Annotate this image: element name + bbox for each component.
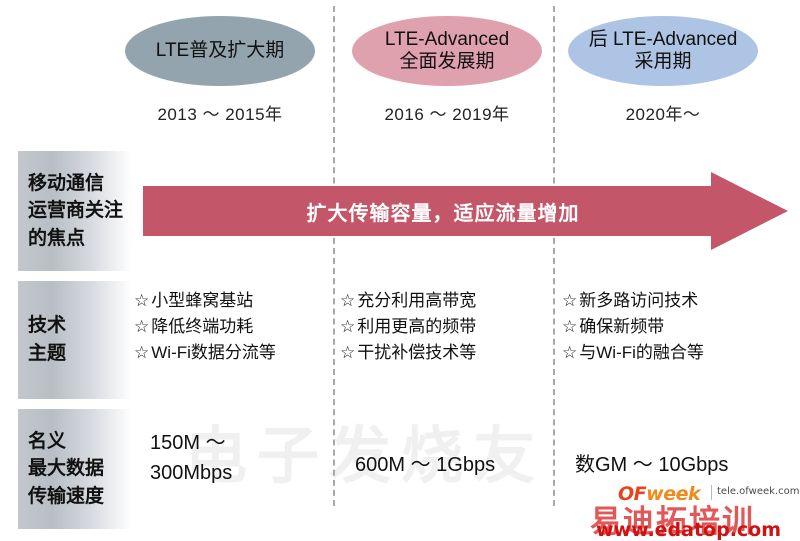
list-item-label: 与Wi-Fi的融合等 [579, 343, 704, 362]
phase-header-1: LTE普及扩大期 2013 ～ 2015年 [125, 16, 315, 125]
speed-value-1-line-2: 300Mbps [150, 458, 232, 488]
phase-subtitle-3: 采用期 [634, 51, 691, 73]
list-item: ☆Wi-Fi数据分流等 [134, 340, 276, 366]
speed-value-1: 150M ～ 300Mbps [150, 428, 232, 488]
phase-header-3: 后 LTE-Advanced 采用期 2020年～ [568, 16, 758, 125]
arrow-label: 扩大传输容量，适应流量增加 [143, 172, 743, 250]
star-icon: ☆ [340, 343, 355, 362]
watermark: OFweek tele.ofweek.com 易迪拓培训 www.edatop.… [618, 483, 798, 541]
technology-list-2: ☆充分利用高带宽 ☆利用更高的频带 ☆干扰补偿技术等 [340, 288, 476, 365]
list-item-label: 确保新频带 [579, 317, 664, 336]
list-item: ☆确保新频带 [562, 314, 704, 340]
list-item-label: Wi-Fi数据分流等 [151, 343, 276, 362]
row-label-speed: 名义 最大数据 传输速度 [18, 409, 132, 529]
figure-canvas: 电子发烧友 LTE普及扩大期 2013 ～ 2015年 LTE-Advanced… [0, 0, 800, 541]
phase-subtitle-2: 全面发展期 [399, 51, 494, 73]
star-icon: ☆ [562, 291, 577, 310]
list-item: ☆利用更高的频带 [340, 314, 476, 340]
row-label-speed-line-1: 名义 [28, 428, 132, 456]
star-icon: ☆ [340, 291, 355, 310]
star-icon: ☆ [562, 343, 577, 362]
star-icon: ☆ [134, 317, 149, 336]
phase-title-2: LTE-Advanced [385, 29, 509, 51]
technology-list-1: ☆小型蜂窝基站 ☆降低终端功耗 ☆Wi-Fi数据分流等 [134, 288, 276, 365]
row-label-focus-line-1: 移动通信 [28, 170, 132, 198]
speed-value-1-line-1: 150M ～ [150, 428, 232, 458]
star-icon: ☆ [562, 317, 577, 336]
row-label-focus: 移动通信 运营商关注 的焦点 [18, 151, 132, 271]
column-separator-2 [553, 6, 555, 506]
list-item-label: 新多路访问技术 [579, 291, 698, 310]
list-item-label: 充分利用高带宽 [357, 291, 476, 310]
list-item: ☆充分利用高带宽 [340, 288, 476, 314]
phase-title-3: 后 LTE-Advanced [589, 29, 738, 51]
speed-value-3-line-1: 数GM ～ 10Gbps [575, 450, 728, 480]
list-item: ☆与Wi-Fi的融合等 [562, 340, 704, 366]
speed-value-2-line-1: 600M ～ 1Gbps [355, 450, 495, 480]
phase-ellipse-3: 后 LTE-Advanced 采用期 [568, 16, 758, 86]
list-item-label: 干扰补偿技术等 [357, 343, 476, 362]
row-label-focus-line-2: 运营商关注 [28, 197, 132, 225]
list-item-label: 利用更高的频带 [357, 317, 476, 336]
row-label-technology-line-1: 技术 [28, 312, 132, 340]
phase-title-1: LTE普及扩大期 [156, 40, 284, 62]
phase-years-1: 2013 ～ 2015年 [125, 100, 315, 125]
watermark-site: www.edatop.com [596, 519, 781, 541]
phase-ellipse-2: LTE-Advanced 全面发展期 [352, 16, 542, 86]
phase-years-2: 2016 ～ 2019年 [352, 100, 542, 125]
row-label-technology: 技术 主题 [18, 281, 132, 399]
phase-header-2: LTE-Advanced 全面发展期 2016 ～ 2019年 [352, 16, 542, 125]
star-icon: ☆ [134, 343, 149, 362]
row-label-technology-line-2: 主题 [28, 340, 132, 368]
list-item-label: 降低终端功耗 [151, 317, 253, 336]
technology-list-3: ☆新多路访问技术 ☆确保新频带 ☆与Wi-Fi的融合等 [562, 288, 704, 365]
list-item: ☆小型蜂窝基站 [134, 288, 276, 314]
column-separator-1 [333, 6, 335, 506]
list-item: ☆新多路访问技术 [562, 288, 704, 314]
row-label-focus-line-3: 的焦点 [28, 225, 132, 253]
capacity-arrow: 扩大传输容量，适应流量增加 [143, 172, 788, 250]
speed-value-2: 600M ～ 1Gbps [355, 450, 495, 480]
star-icon: ☆ [134, 291, 149, 310]
list-item: ☆降低终端功耗 [134, 314, 276, 340]
speed-value-3: 数GM ～ 10Gbps [575, 450, 728, 480]
star-icon: ☆ [340, 317, 355, 336]
phase-ellipse-1: LTE普及扩大期 [125, 16, 315, 86]
row-label-speed-line-2: 最大数据 [28, 455, 132, 483]
phase-years-3: 2020年～ [568, 100, 758, 125]
row-label-speed-line-3: 传输速度 [28, 483, 132, 511]
list-item: ☆干扰补偿技术等 [340, 340, 476, 366]
list-item-label: 小型蜂窝基站 [151, 291, 253, 310]
